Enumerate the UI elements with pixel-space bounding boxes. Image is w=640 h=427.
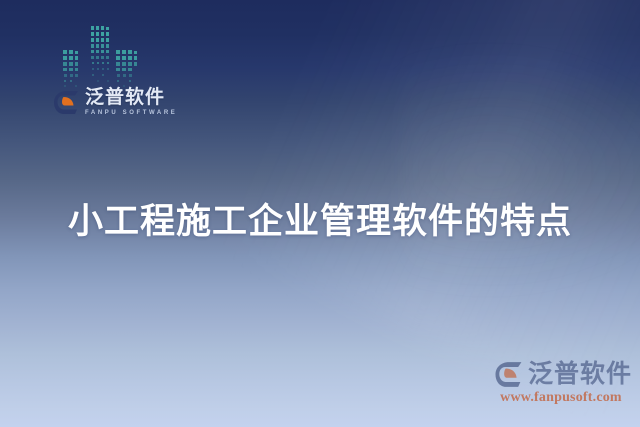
headline-title: 小工程施工企业管理软件的特点 — [0, 193, 640, 244]
brand-logo: 泛普软件 FANPU SOFTWARE — [53, 88, 177, 116]
background-glow — [400, 40, 640, 300]
promo-banner: 泛普软件 FANPU SOFTWARE 小工程施工企业管理软件的特点 泛普软件 … — [0, 0, 640, 427]
fanpu-emblem-icon — [494, 361, 524, 388]
brand-name-cn: 泛普软件 — [85, 88, 177, 107]
watermark-brand-name: 泛普软件 — [528, 362, 632, 387]
watermark-url: www.fanpusoft.com — [490, 390, 632, 406]
brand-name-en: FANPU SOFTWARE — [85, 110, 177, 116]
fanpu-emblem-icon — [53, 90, 80, 115]
watermark: 泛普软件 www.fanpusoft.com — [490, 361, 632, 419]
pixel-cityscape-graphic — [58, 24, 162, 90]
